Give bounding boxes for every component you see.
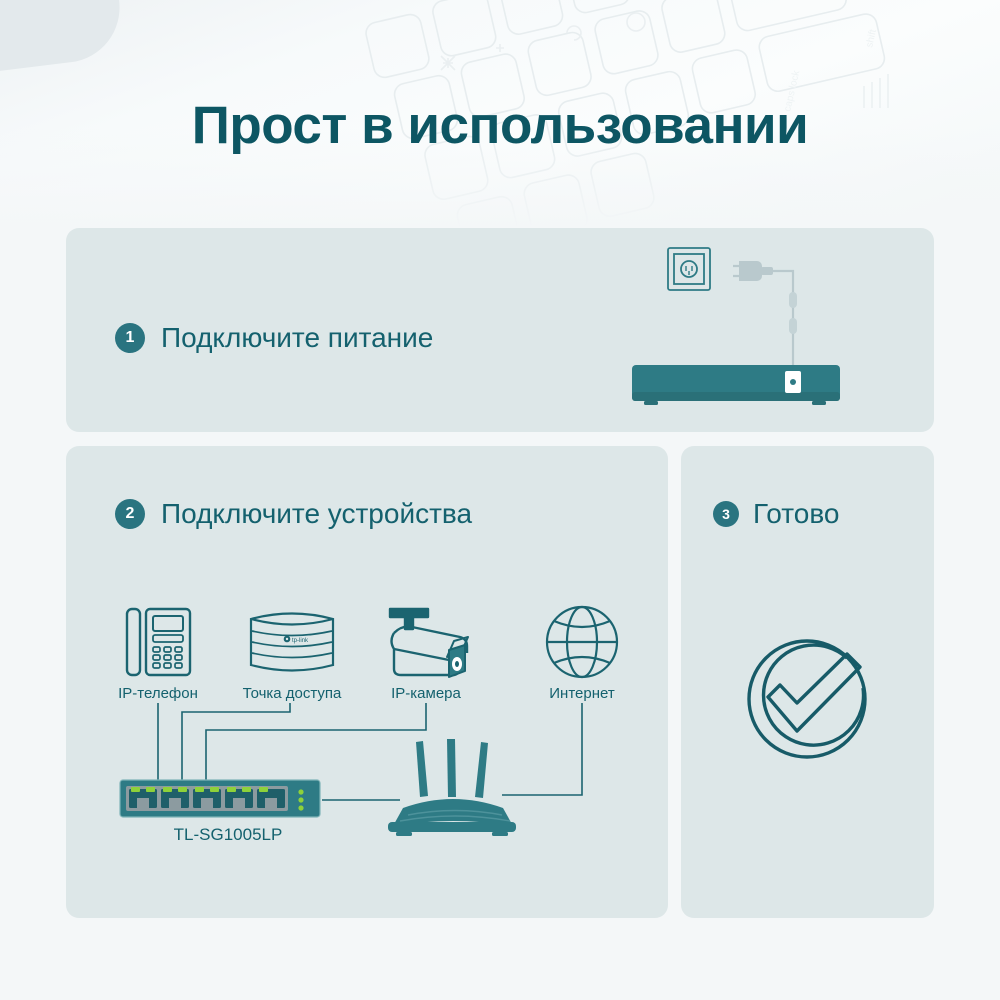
check-circle-icon xyxy=(735,625,885,775)
globe-icon xyxy=(547,607,617,677)
ip-camera-icon xyxy=(390,609,468,677)
network-switch-icon xyxy=(632,365,840,405)
network-switch-device xyxy=(120,780,320,817)
device-label-ip-camera: IP-камера xyxy=(360,685,492,702)
background-corner-shape xyxy=(0,0,126,74)
wall-socket-icon xyxy=(668,248,710,290)
step-1-title: Подключите питание xyxy=(161,322,433,354)
router-antennas xyxy=(416,739,488,798)
device-label-internet: Интернет xyxy=(512,685,652,702)
step-3-badge: 3 xyxy=(713,501,739,527)
switch-port-leds xyxy=(131,787,268,792)
svg-text:shift: shift xyxy=(864,28,879,49)
switch-status-leds xyxy=(298,789,303,810)
step-1-heading: 1 Подключите питание xyxy=(115,322,433,354)
tp-link-logo: tp-link xyxy=(284,636,309,644)
switch-model-label: TL-SG1005LP xyxy=(118,825,338,845)
promo-page: caps lock shift Прост в использовании 1 … xyxy=(0,0,1000,1000)
step-2-badge: 2 xyxy=(115,499,145,529)
device-label-ip-phone: IP-телефон xyxy=(88,685,228,702)
power-plug-icon xyxy=(733,261,773,281)
device-label-access-point: Точка доступа xyxy=(218,685,366,702)
svg-text:tp-link: tp-link xyxy=(292,638,309,644)
step-3-title: Готово xyxy=(753,498,839,530)
page-title: Прост в использовании xyxy=(0,98,1000,154)
power-connection-illustration xyxy=(630,240,850,420)
step-2-title: Подключите устройства xyxy=(161,498,472,530)
ip-phone-icon xyxy=(127,609,190,675)
devices-connection-diagram: tp-link xyxy=(100,595,640,855)
power-cord xyxy=(770,271,793,366)
wifi-router-icon xyxy=(388,739,516,836)
step-1-badge: 1 xyxy=(115,323,145,353)
step-3-heading: 3 Готово xyxy=(713,498,839,530)
step-2-heading: 2 Подключите устройства xyxy=(115,498,472,530)
